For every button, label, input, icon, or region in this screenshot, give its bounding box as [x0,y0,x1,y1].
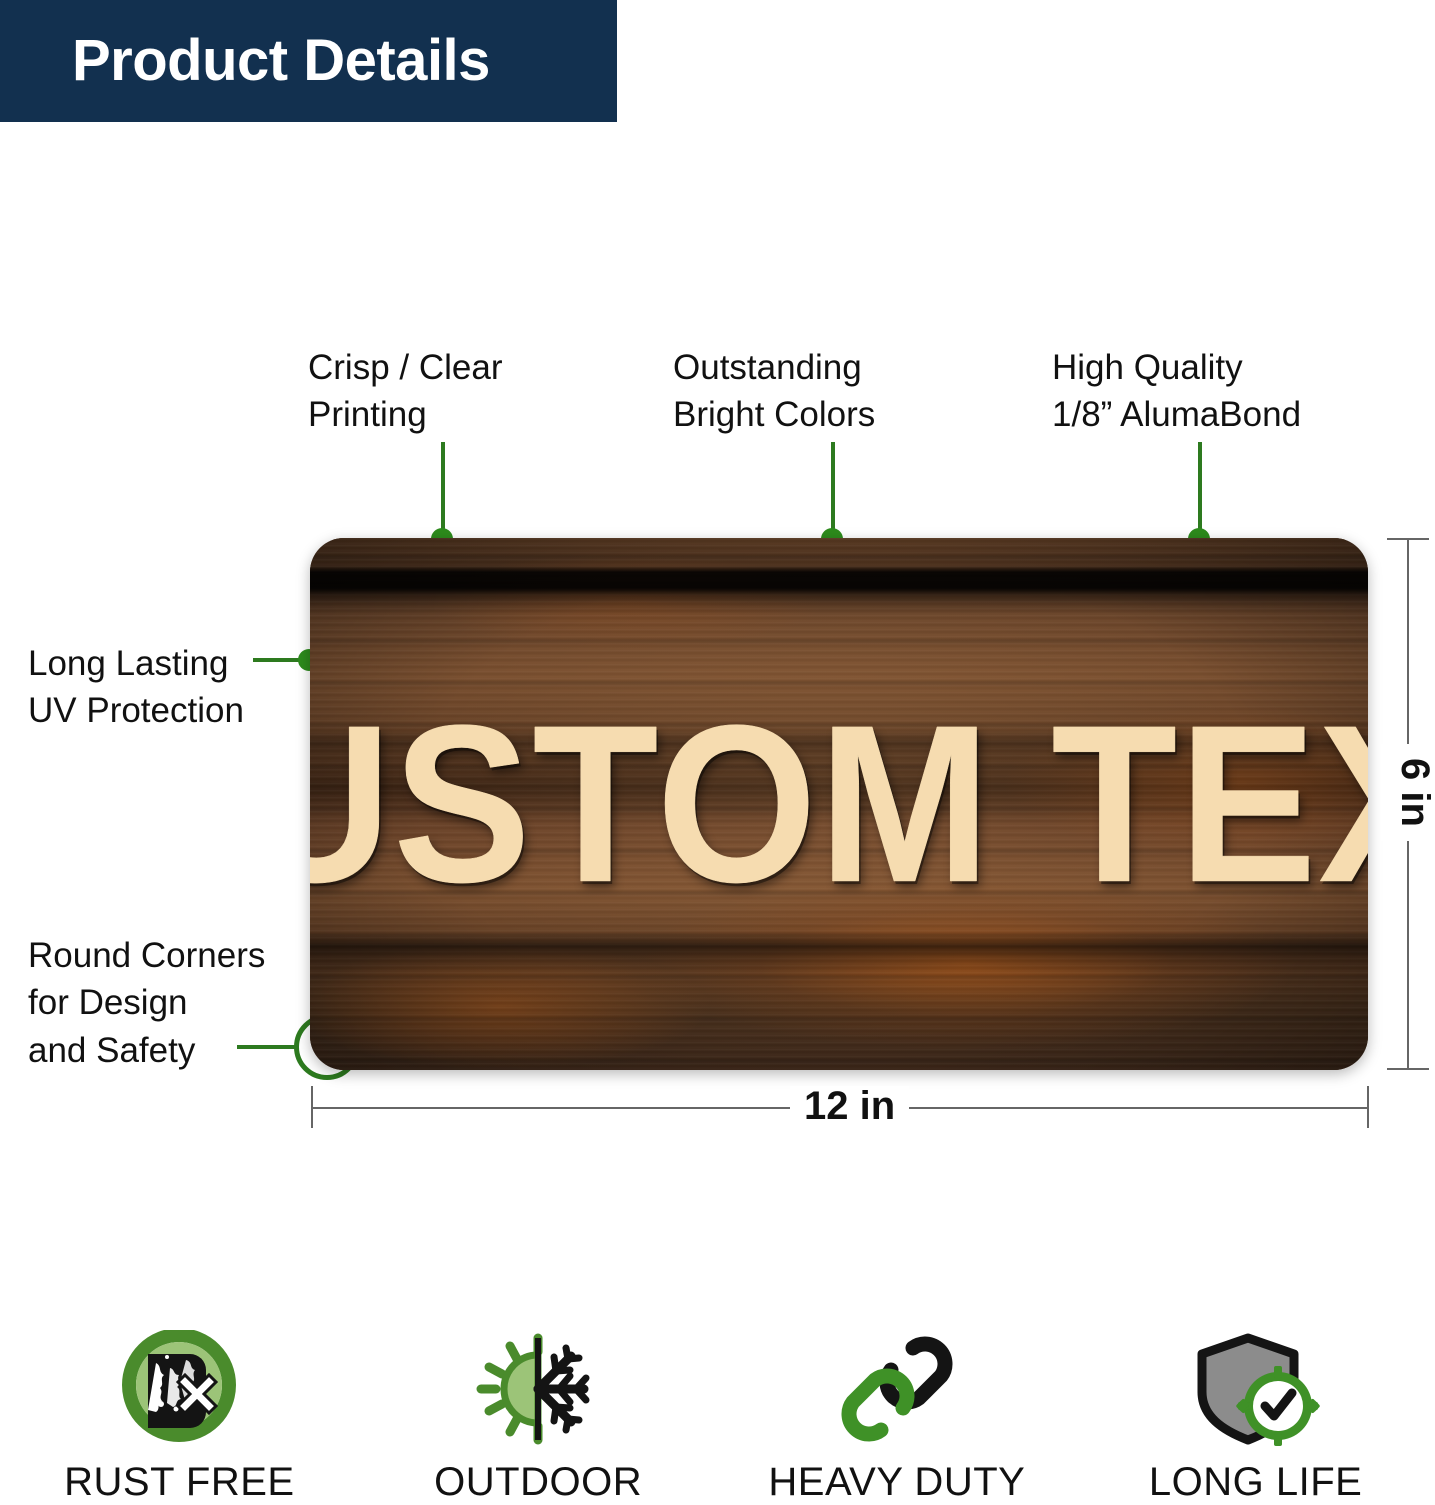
page-title: Product Details [0,32,490,90]
feature-outdoor: OUTDOOR [378,1330,698,1505]
shield-clock-icon [1186,1330,1326,1448]
sign-text-container: CUSTOM TEXT [310,538,1368,1070]
dimension-cap-left [311,1086,313,1128]
callout-label-high-quality-alumabond: High Quality 1/8” AlumaBond [1052,344,1301,439]
dimension-cap-top [1387,538,1429,540]
feature-label-heavy-duty: HEAVY DUTY [768,1460,1025,1505]
sign-custom-text: CUSTOM TEXT [310,692,1368,916]
feature-long-life: LONG LIFE [1096,1330,1416,1505]
feature-heavy-duty: HEAVY DUTY [737,1330,1057,1505]
dimension-label-width: 12 in [790,1086,909,1126]
rust-free-icon [104,1330,254,1448]
callout-label-crisp-clear-printing: Crisp / Clear Printing [308,344,502,439]
callout-label-long-lasting-uv-protection: Long Lasting UV Protection [28,640,244,735]
leader-line-crisp-icon [441,442,445,540]
product-sign-preview: CUSTOM TEXT [310,538,1368,1070]
leader-line-alumabond-icon [1198,442,1202,540]
dimension-cap-bottom [1387,1068,1429,1070]
leader-line-corners-icon [237,1045,297,1049]
feature-badges-row: RUST FREE [0,1330,1435,1505]
feature-label-long-life: LONG LIFE [1149,1460,1362,1505]
sun-snowflake-icon [458,1330,618,1448]
feature-label-rust-free: RUST FREE [64,1460,294,1505]
feature-label-outdoor: OUTDOOR [434,1460,642,1505]
header-banner: Product Details [0,0,617,122]
leader-line-colors-icon [831,442,835,540]
callout-label-round-corners-design-safety: Round Corners for Design and Safety [28,932,265,1074]
callout-label-outstanding-bright-colors: Outstanding Bright Colors [673,344,875,439]
chain-link-icon [827,1330,967,1448]
dimension-cap-right [1367,1086,1369,1128]
dimension-label-height: 6 in [1381,744,1435,841]
feature-rust-free: RUST FREE [19,1330,339,1505]
